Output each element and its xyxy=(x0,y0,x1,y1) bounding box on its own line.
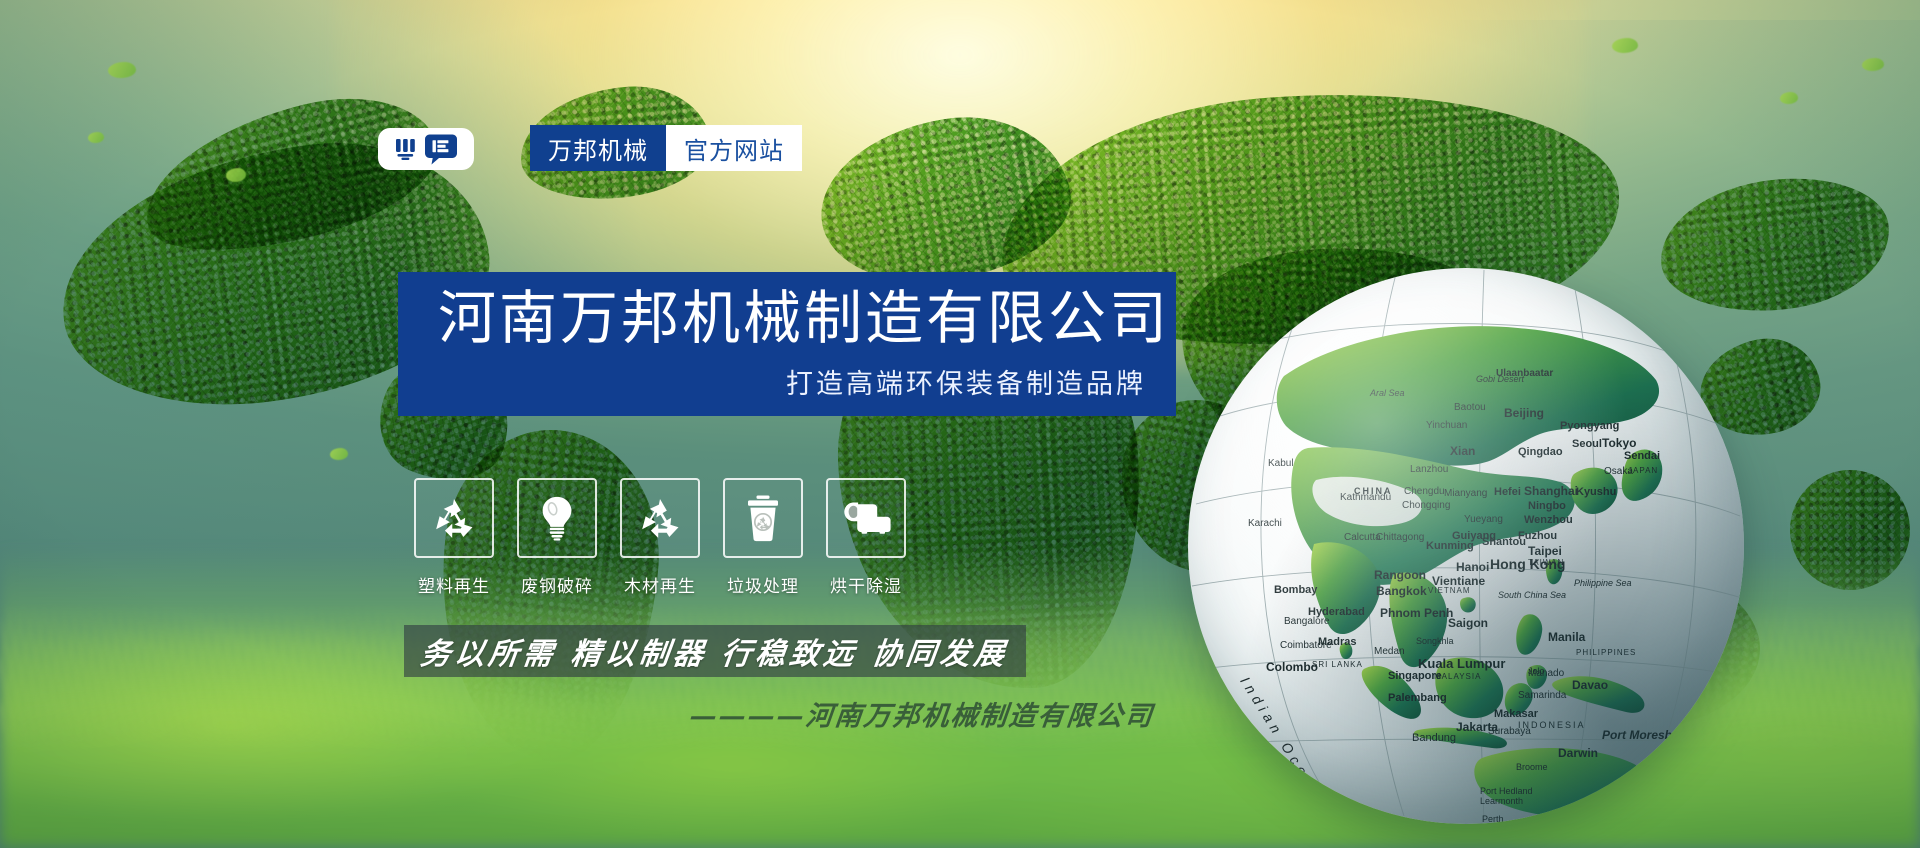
feature-item-plastic-recycling[interactable]: 塑料再生 xyxy=(415,478,493,597)
tab-company-name[interactable]: 万邦机械 xyxy=(530,125,666,171)
feature-item-drying-dehumidifying[interactable]: 烘干除湿 xyxy=(827,478,905,597)
trash-bin-icon xyxy=(743,494,783,542)
recycle-icon xyxy=(431,495,477,541)
feature-icon-box xyxy=(517,478,597,558)
hero-title-panel: 河南万邦机械制造有限公司 打造高端环保装备制造品牌 xyxy=(398,272,1176,416)
tab-official-site[interactable]: 官方网站 xyxy=(666,125,802,171)
globe-sphere: Ulaanbaatar Beijing Baotou Yinchuan Lanz… xyxy=(1188,268,1744,824)
feature-item-wood-recycling[interactable]: 木材再生 xyxy=(621,478,699,597)
lightbulb-icon xyxy=(535,495,579,541)
feature-list: 塑料再生 废钢破碎 xyxy=(415,478,905,597)
e-speech-bubble-icon xyxy=(424,132,458,166)
dryer-blower-icon xyxy=(841,500,891,536)
slogan-attribution: ————河南万邦机械制造有限公司 xyxy=(688,694,1156,733)
slogan-text: 务以所需 精以制器 行稳致远 协同发展 xyxy=(419,629,1012,673)
globe-graphic: Ulaanbaatar Beijing Baotou Yinchuan Lanz… xyxy=(1188,268,1744,824)
feature-icon-box xyxy=(620,478,700,558)
feature-label: 烘干除湿 xyxy=(830,572,902,597)
company-logo[interactable] xyxy=(378,128,474,170)
feature-label: 垃圾处理 xyxy=(727,572,799,597)
feature-label: 塑料再生 xyxy=(418,572,490,597)
slogan-bar: 务以所需 精以制器 行稳致远 协同发展 xyxy=(404,625,1026,677)
hero-banner: 万邦机械 官方网站 河南万邦机械制造有限公司 打造高端环保装备制造品牌 塑料再生 xyxy=(0,0,1920,848)
feature-label: 废钢破碎 xyxy=(521,572,593,597)
feature-item-waste-treatment[interactable]: 垃圾处理 xyxy=(724,478,802,597)
feature-item-steel-shredding[interactable]: 废钢破碎 xyxy=(518,478,596,597)
feature-icon-box xyxy=(414,478,494,558)
globe-landmasses xyxy=(1188,268,1744,824)
feature-icon-box xyxy=(723,478,803,558)
w-mark-icon xyxy=(395,137,421,161)
feature-icon-box xyxy=(826,478,906,558)
page-title: 河南万邦机械制造有限公司 xyxy=(438,286,1170,351)
site-title-tabs: 万邦机械 官方网站 xyxy=(530,125,802,171)
page-subtitle: 打造高端环保装备制造品牌 xyxy=(786,362,1146,401)
recycle-icon xyxy=(637,495,683,541)
feature-label: 木材再生 xyxy=(624,572,696,597)
